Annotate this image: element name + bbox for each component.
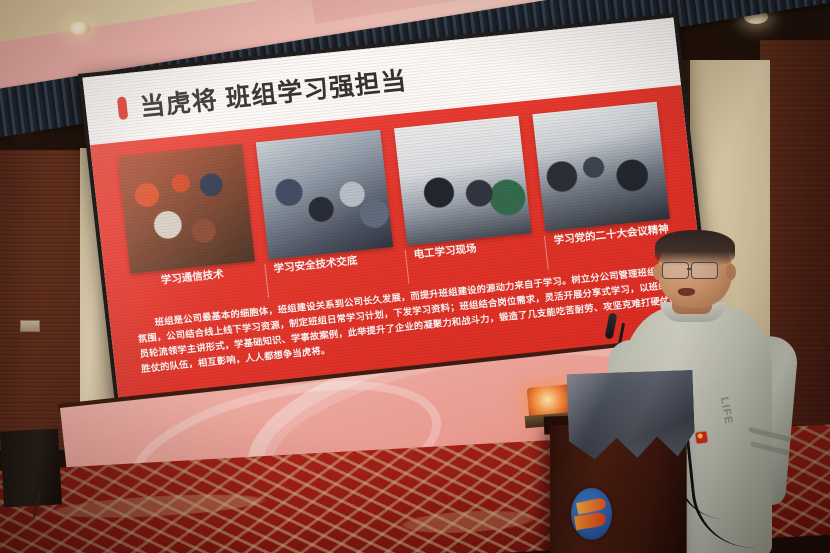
logo-swoosh-upper <box>576 497 607 515</box>
company-oval-swoosh-logo-icon <box>571 488 612 540</box>
slide-photo-4 <box>532 102 670 232</box>
eyeglasses-left-lens-icon <box>662 262 689 279</box>
slide-title: 当虎将 班组学习强担当 <box>138 61 409 124</box>
speaker-hair <box>655 230 735 266</box>
slide-photo-3 <box>394 116 532 246</box>
slide-bullet-marker <box>117 96 129 120</box>
photo-caption-2: 学习安全技术交底 <box>264 251 394 298</box>
photo-scene: 当虎将 班组学习强担当 学习通信技术 学习安全技术交底 电工学习现场 学习党的二… <box>0 0 830 553</box>
eyeglasses-bridge-icon <box>687 268 692 270</box>
light-switch-plate[interactable] <box>20 320 40 332</box>
floor-loudspeaker <box>0 429 62 508</box>
slide-photo-1 <box>117 144 255 274</box>
ceiling-downlight-1 <box>68 22 90 35</box>
eyeglasses-right-lens-icon <box>691 262 718 279</box>
podium-metal-front-plate <box>567 370 696 460</box>
photo-caption-3: 电工学习现场 <box>404 237 534 284</box>
photo-caption-1: 学习通信技术 <box>131 266 254 312</box>
speaker-ear-right <box>726 264 736 280</box>
slide-photo-2 <box>256 130 394 260</box>
speaker-mouth <box>678 288 695 296</box>
